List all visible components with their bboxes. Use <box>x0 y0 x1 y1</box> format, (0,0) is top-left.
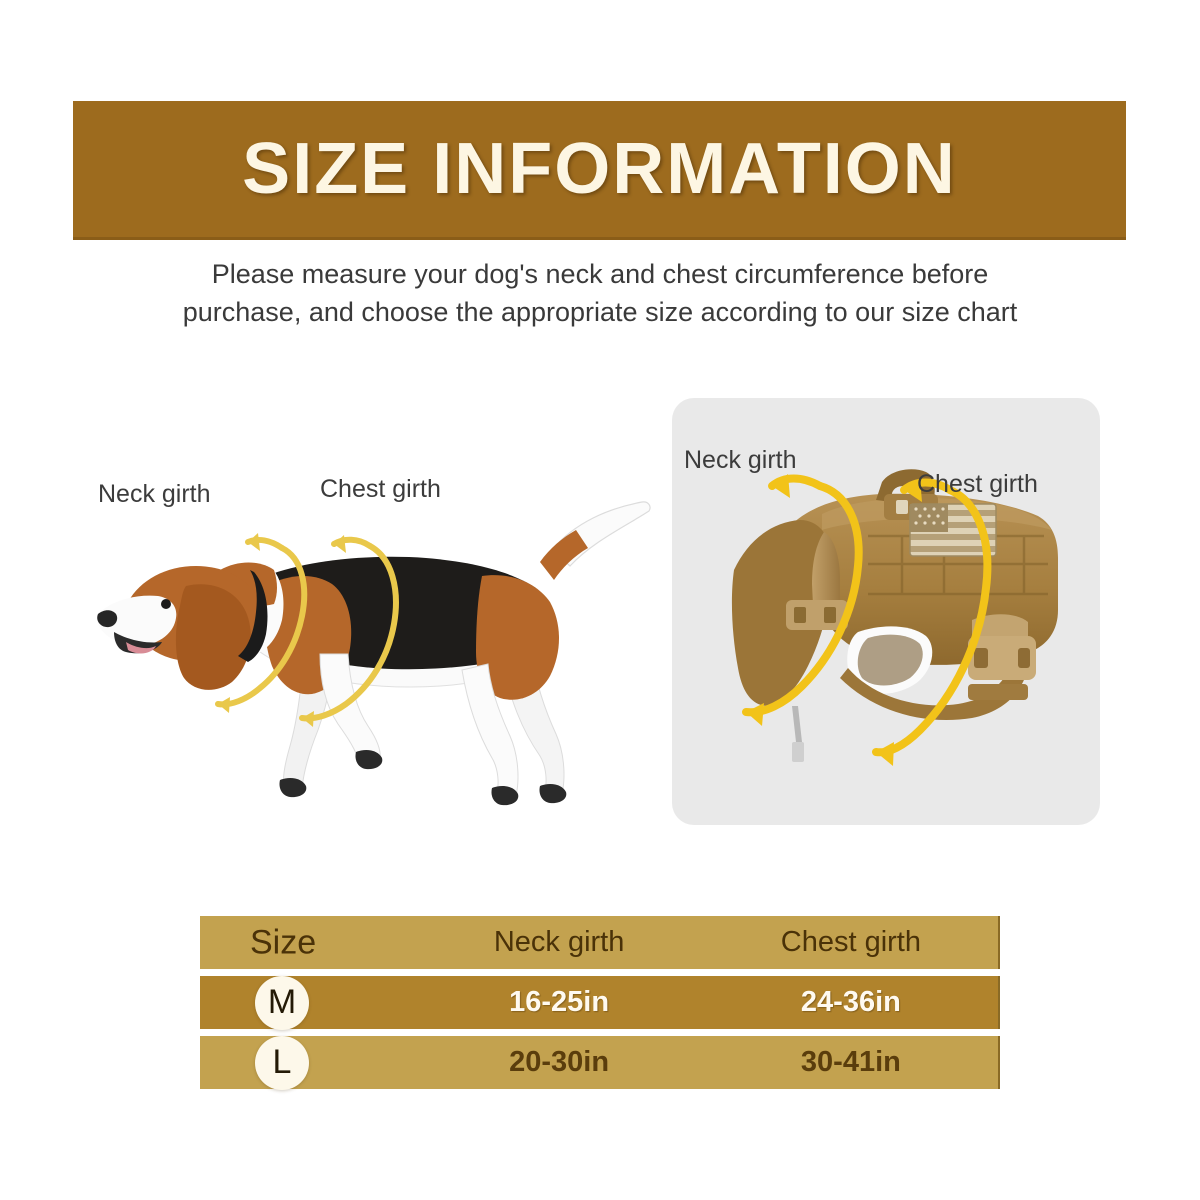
page-title: SIZE INFORMATION <box>242 128 957 210</box>
row-cell-chest-m: 24-36in <box>704 986 998 1019</box>
value-neck-m: 16-25in <box>509 986 609 1018</box>
header-cell-chest: Chest girth <box>704 926 998 959</box>
row-cell-size-m: M <box>200 976 414 1029</box>
row-cell-neck-l: 20-30in <box>414 1046 703 1079</box>
row-cell-size-l: L <box>200 1036 414 1089</box>
subtitle-line-2: purchase, and choose the appropriate siz… <box>90 293 1110 331</box>
header-banner: SIZE INFORMATION <box>73 101 1126 240</box>
row-cell-chest-l: 30-41in <box>704 1046 998 1079</box>
value-neck-l: 20-30in <box>509 1046 609 1078</box>
header-label-neck: Neck girth <box>494 926 625 958</box>
value-chest-m: 24-36in <box>801 986 901 1018</box>
header-label-chest: Chest girth <box>781 926 921 958</box>
subtitle-text: Please measure your dog's neck and chest… <box>90 255 1110 331</box>
table-header-row: Size Neck girth Chest girth <box>200 916 1000 969</box>
header-cell-size: Size <box>200 916 414 969</box>
table-row: M 16-25in 24-36in <box>200 976 1000 1029</box>
subtitle-line-1: Please measure your dog's neck and chest… <box>90 255 1110 293</box>
harness-neck-girth-label: Neck girth <box>684 446 797 475</box>
value-chest-l: 30-41in <box>801 1046 901 1078</box>
harness-illustration-panel: Neck girth Chest girth <box>672 398 1100 825</box>
size-badge-l: L <box>255 1036 309 1090</box>
size-badge-m: M <box>255 976 309 1030</box>
dog-illustration-panel: Neck girth Chest girth <box>70 390 660 830</box>
header-cell-neck: Neck girth <box>414 926 703 959</box>
table-row: L 20-30in 30-41in <box>200 1036 1000 1089</box>
harness-chest-girth-label: Chest girth <box>917 470 1038 499</box>
header-label-size: Size <box>250 923 316 962</box>
row-cell-neck-m: 16-25in <box>414 986 703 1019</box>
size-chart-table: Size Neck girth Chest girth M 16-25in 24… <box>200 916 1000 1096</box>
beagle-dog-figure <box>70 390 660 830</box>
